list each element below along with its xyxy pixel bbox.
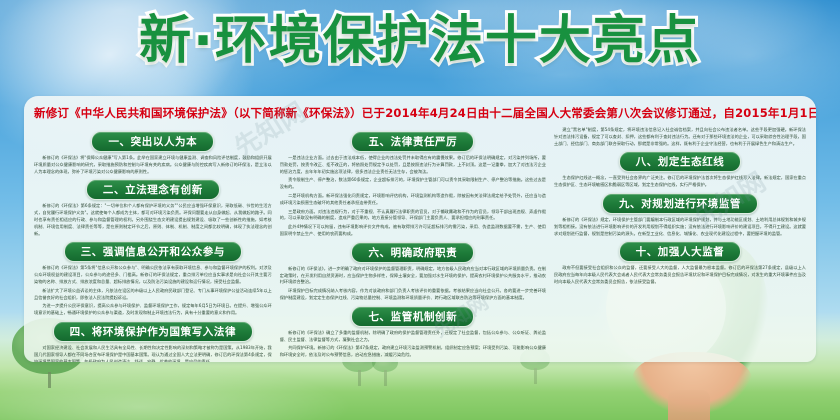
- section-paragraph: 对国家经济建设、社会发展和人民生活具有全局性、长期性和决定性影响的深刻和策略才被…: [34, 345, 272, 362]
- column-right: 建立"黑名单"制度，第54条规定，将环境违法信息记入社会诚信档案，并且向社会公布…: [554, 127, 806, 351]
- content-panel: 新修订《中华人民共和国环境保护法》（以下简称新《环保法》）已于2014年4月24…: [24, 96, 816, 362]
- section-heading: 六、明确政府职责: [280, 242, 546, 263]
- content-section: 十、加强人大监督政府不但要接受社会组织和公众的监督，还要接受人大的监督，人大监督…: [554, 241, 806, 285]
- section-heading-pill: 八、划定生态红线: [619, 151, 742, 172]
- section-paragraph: 生态保护红线这一概念，一直受到社会各界的广泛关注。修订后的环境保护法首次将生态保…: [554, 175, 806, 189]
- section-paragraph: 为进一步提升公民环保意识，提高公众参与环境保护、监督环境保护工作，规定每年6月5…: [34, 303, 272, 317]
- section-heading: 五、法律责任严厉: [280, 131, 546, 152]
- section-heading-pill: 九、对规划进行环境监管: [602, 193, 758, 214]
- section-heading: 二、立法理念有创新: [34, 179, 272, 200]
- section-heading-pill: 七、监管机制创新: [351, 306, 474, 327]
- section-paragraph: 环境保护目标完成情况纳入考核内容，作为对该政府和部门负责人考核评价的重要依据。考…: [280, 288, 546, 302]
- section-paragraph: 二是环境机构方面。新环保法强化问责规定，环境影响评估机构，环境监测机构等造作假，…: [280, 193, 546, 207]
- content-section: 八、划定生态红线生态保护红线这一概念，一直受到社会各界的广泛关注。修订后的环境保…: [554, 151, 806, 189]
- column-middle: 五、法律责任严厉一是违法企业方面。过去由于违法成本低，使得企业的违法处罚并未取得…: [280, 127, 546, 351]
- content-section: 二、立法理念有创新新修订的《环保法》第6条规定："一切单位和个人都有保护环境的义…: [34, 179, 272, 237]
- section-paragraph: 政府不但要接受社会组织和公众的监督，还要接受人大的监督，人大监督最为根本监督。修…: [554, 265, 806, 285]
- content-section: 一、突出以人为本新修订的《环保法》将"保障公众健康"写入第1条。此举在国家建立环…: [34, 131, 272, 175]
- content-section: 三、强调信息公开和公众参与新修订的《环保法》第5条将"信息公开和公众参与"、明确…: [34, 241, 272, 317]
- section-heading-pill: 五、法律责任严厉: [351, 131, 474, 152]
- page-title-text: 新·环境保护法十大亮点: [139, 11, 701, 71]
- section-heading: 四、将环境保护作为国策写入法律: [34, 321, 272, 342]
- section-heading-pill: 六、明确政府职责: [351, 242, 474, 263]
- section-paragraph: 此外4种情况下可以拘留，违有环境影响评价文件构成，被有取得排污许可证超标排污的需…: [280, 224, 546, 238]
- section-paragraph: 新修订的《环保法》规定，环境保护主管部门要编制本行政区域的环境保护规划，并与土地…: [554, 217, 806, 237]
- column-left: 一、突出以人为本新修订的《环保法》将"保障公众健康"写入第1条。此举在国家建立环…: [34, 127, 272, 351]
- section-heading-pill: 三、强调信息公开和公众参与: [64, 241, 242, 262]
- section-paragraph: 新修订的《环保法》第6条规定："一切单位和个人都有保护环境的义务""公民应当增强…: [34, 203, 272, 237]
- section-paragraph: 新修订的《环保法》确立了多重的监督机制，除明确了政府的保护监督管理责任外，还规定…: [280, 330, 546, 344]
- content-section: 六、明确政府职责新修订的《环保法》，进一步明确了政府对环境保护的监督管理职责，明…: [280, 242, 546, 302]
- section-heading: 三、强调信息公开和公众参与: [34, 241, 272, 262]
- content-section: 九、对规划进行环境监管新修订的《环保法》规定，环境保护主管部门要编制本行政区域的…: [554, 193, 806, 237]
- section-paragraph: 新法扩大了环境公益诉讼的主体，凡依法在设区的市级以上人民政府民政部门登记、专门从…: [34, 288, 272, 302]
- page-title: 新·环境保护法十大亮点: [0, 14, 840, 69]
- section-heading: 八、划定生态红线: [554, 151, 806, 172]
- section-paragraph: 新修订的《环保法》将"保障公众健康"写入第1条。此举在国家建立环境与健康监测、调…: [34, 155, 272, 175]
- section-paragraph: 责令限制生产、停产整治，数法第60条规定，企业超标排污的，环境保护主管部门可以责…: [280, 177, 546, 191]
- section-heading-pill: 二、立法理念有创新: [86, 179, 220, 200]
- section-heading: 七、监管机制创新: [280, 306, 546, 327]
- section-paragraph: 新修订的《环保法》第5条将"信息公开和公众参与"、明确公民依法享有获取环境信息、…: [34, 265, 272, 285]
- section-heading: 一、突出以人为本: [34, 131, 272, 152]
- section-heading: 十、加强人大监督: [554, 241, 806, 262]
- content-section: 七、监管机制创新新修订的《环保法》确立了多重的监督机制，除明确了政府的保护监督管…: [280, 306, 546, 359]
- section-heading-pill: 一、突出以人为本: [91, 131, 214, 152]
- content-section: 建立"黑名单"制度，第54条规定，将环境违法信息记入社会诚信档案，并且向社会公布…: [554, 127, 806, 147]
- section-heading-pill: 四、将环境保护作为国策写入法律: [53, 321, 254, 342]
- content-section: 五、法律责任严厉一是违法企业方面。过去由于违法成本低，使得企业的违法处罚并未取得…: [280, 131, 546, 238]
- poster-root: 新·环境保护法十大亮点 新修订《中华人民共和国环境保护法》（以下简称新《环保法》…: [0, 0, 840, 420]
- section-paragraph: 新修订的《环保法》，进一步明确了政府对环境保护的监督管理职责，明确规定，地方各级…: [280, 266, 546, 286]
- notice-text: 新修订《中华人民共和国环境保护法》（以下简称新《环保法》）已于2014年4月24…: [34, 105, 806, 121]
- section-paragraph: 三是政府方面。对违法违规行为，对于不重视、不认真履行法律职责的官员，对于懒政庸政…: [280, 209, 546, 223]
- section-heading-pill: 十、加强人大监督: [619, 241, 742, 262]
- section-paragraph: 建立"黑名单"制度，第54条规定，将环境违法信息记入社会诚信档案，并且向社会公布…: [554, 127, 806, 147]
- section-paragraph: 共同保护环境。新修订的《环保法》第47条规定，政府建立环境污染监测预警机制，组织…: [280, 345, 546, 359]
- content-section: 四、将环境保护作为国策写入法律对国家经济建设、社会发展和人民生活具有全局性、长期…: [34, 321, 272, 362]
- section-paragraph: 一是违法企业方面。过去由于违法成本低，使得企业的违法处罚并未取得应有的震慑效果。…: [280, 155, 546, 175]
- section-heading: 九、对规划进行环境监管: [554, 193, 806, 214]
- columns-container: 一、突出以人为本新修订的《环保法》将"保障公众健康"写入第1条。此举在国家建立环…: [24, 127, 816, 359]
